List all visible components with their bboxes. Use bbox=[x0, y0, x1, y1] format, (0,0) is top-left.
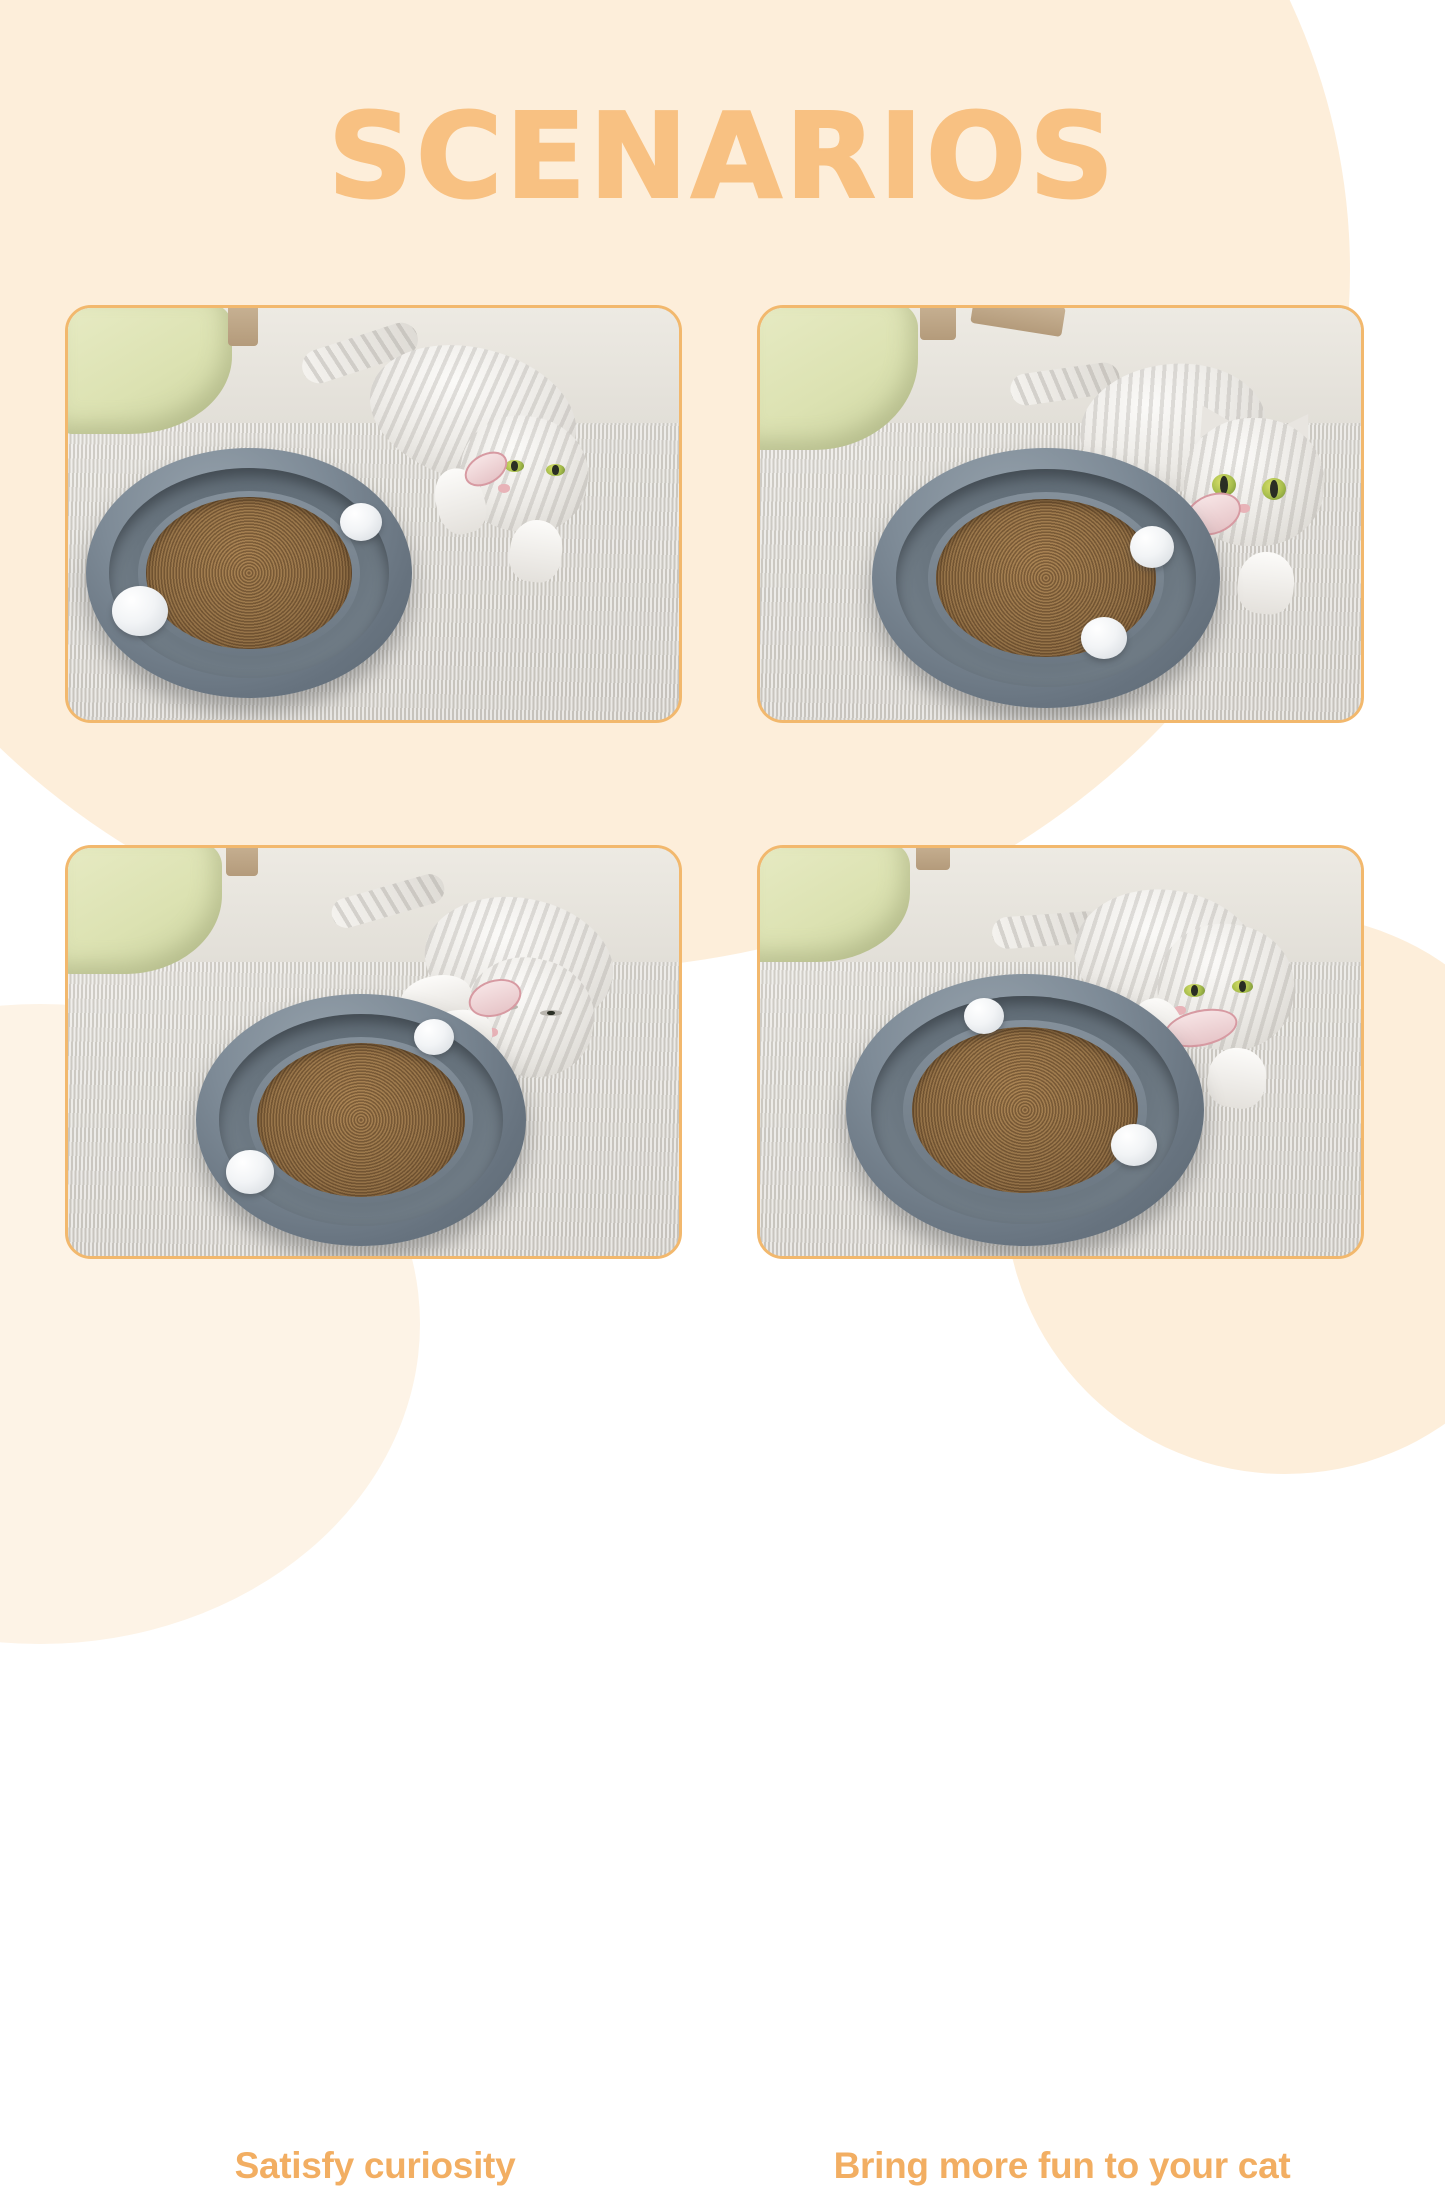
scenario-photo bbox=[68, 848, 679, 1256]
cat-nose bbox=[498, 484, 510, 493]
toy-cardboard-scratchpad bbox=[912, 1027, 1138, 1193]
cat-eye-right bbox=[1232, 980, 1253, 993]
furniture-leg bbox=[916, 845, 950, 870]
scenario-caption: Bring more fun to your cat bbox=[767, 2145, 1357, 2186]
scenario-photo-frame bbox=[65, 845, 682, 1259]
furniture-leg bbox=[920, 305, 956, 340]
toy-ball-right bbox=[1111, 1124, 1157, 1166]
toy-cardboard-scratchpad bbox=[146, 497, 351, 650]
cat-eye-closed-right bbox=[540, 1010, 562, 1016]
toy-ball-left bbox=[226, 1150, 274, 1194]
toy-ball bbox=[112, 586, 168, 636]
cat-scratcher-toy bbox=[196, 994, 526, 1246]
toy-ball-lower bbox=[1081, 617, 1127, 659]
page-title: SCENARIOS bbox=[0, 97, 1445, 215]
cat-scratcher-toy bbox=[846, 974, 1204, 1246]
cat-eye-right bbox=[1262, 478, 1286, 500]
scenario-photo bbox=[760, 848, 1361, 1256]
scenario-photo bbox=[760, 308, 1361, 720]
cat-scratcher-toy bbox=[872, 448, 1220, 708]
toy-ball-hidden bbox=[340, 503, 382, 541]
cat-eye-left bbox=[505, 460, 524, 472]
furniture-leg bbox=[228, 305, 258, 346]
scenario-caption: Satisfy curiosity bbox=[55, 2145, 695, 2186]
scenario-photo-frame bbox=[757, 305, 1364, 723]
toy-cardboard-scratchpad bbox=[257, 1043, 465, 1197]
scenario-photo bbox=[68, 308, 679, 720]
scenario-photo-frame bbox=[757, 845, 1364, 1259]
furniture-leg bbox=[226, 845, 258, 876]
toy-ball-upper bbox=[1130, 526, 1174, 568]
cat-eye-right bbox=[546, 464, 565, 476]
toy-ball-top bbox=[414, 1019, 454, 1055]
scenario-photo-frame bbox=[65, 305, 682, 723]
cat-scratcher-toy bbox=[86, 448, 412, 698]
